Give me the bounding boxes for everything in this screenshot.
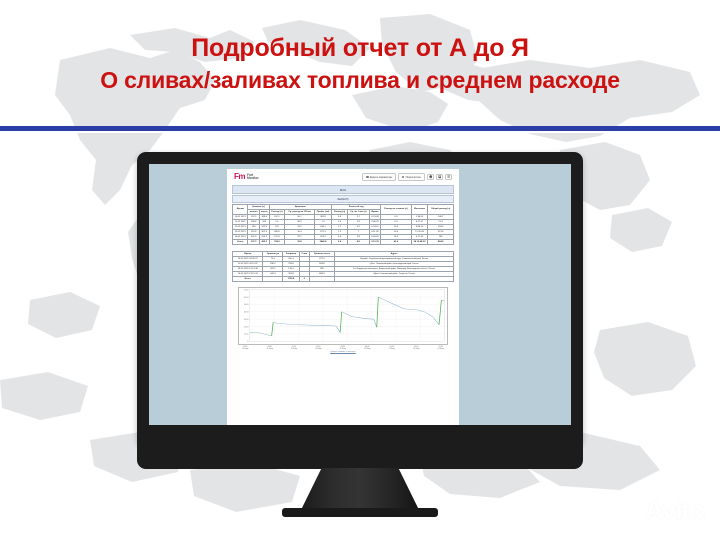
svg-text:400: 400 — [244, 311, 250, 313]
table-cell: 824.8 — [428, 240, 454, 245]
table-cell: 2443.4 — [314, 240, 331, 245]
svg-text:300: 300 — [244, 318, 250, 320]
table-cell: 34 10:08:03 — [411, 240, 427, 245]
x-axis-tick: 22:0014 Февр — [438, 346, 444, 350]
svg-text:100: 100 — [244, 333, 250, 335]
refresh-icon — [402, 176, 404, 178]
app-toolbar: Задать параметры Пересчитать — [362, 173, 452, 181]
fuel-chart-x-axis: 22:0010 Февр04:0011 Февр10:0011 Февр16:0… — [238, 346, 448, 350]
blue-divider — [0, 126, 720, 131]
svg-text:700: 700 — [244, 289, 250, 291]
set-params-button[interactable]: Задать параметры — [362, 173, 396, 181]
x-axis-tick: 10:0013 Февр — [389, 346, 395, 350]
table-total-row: Итого1155.80 — [233, 277, 454, 282]
menu-button[interactable] — [445, 174, 452, 181]
x-axis-tick: 22:0012 Февр — [340, 346, 346, 350]
fuel-chart-plot: 0100200300400500600700 — [238, 287, 448, 345]
table-cell: 9.4 — [332, 240, 348, 245]
headline-line-2: О сливах/заливах топлива и среднем расхо… — [100, 67, 620, 94]
table-cell: 1155.8 — [283, 277, 299, 282]
consumption-table-head: Время Уровень (л) Движение Холостой ход … — [233, 205, 454, 215]
app-header: Fm Fort Monitor Задать параметры — [232, 173, 454, 181]
svg-text:200: 200 — [244, 326, 250, 328]
table-cell: 754.5 — [269, 240, 285, 245]
table-cell: 4.8 — [347, 240, 369, 245]
monitor-frame: Fm Fort Monitor Задать параметры — [137, 152, 583, 447]
export-icon — [438, 175, 441, 178]
printer-icon — [429, 175, 432, 178]
report-page: Fm Fort Monitor Задать параметры — [227, 169, 459, 431]
x-axis-tick: 22:0010 Февр — [242, 346, 248, 350]
gear-icon — [366, 176, 368, 178]
x-axis-tick: 16:0011 Февр — [315, 346, 321, 350]
table-cell: Итого — [233, 277, 263, 282]
table-cell: 107.3 — [248, 240, 259, 245]
table-cell: 30.8 — [285, 240, 315, 245]
brand-logo: Fm Fort Monitor — [234, 173, 259, 181]
th-time: Время — [233, 205, 248, 215]
th-engine-hours: Моточасы — [411, 205, 427, 215]
table-total-row: Итого107.3420.2754.530.82443.49.44.83:10… — [233, 240, 454, 245]
table-cell: Итого — [233, 240, 248, 245]
list-icon — [447, 175, 450, 178]
fuel-events-table: ВремяУровень доЗаправкаСливУровень после… — [232, 251, 454, 282]
table-cell — [309, 277, 334, 282]
avito-watermark-text: Avito — [645, 495, 704, 526]
svg-text:0: 0 — [247, 340, 249, 342]
x-axis-tick: 04:0013 Февр — [364, 346, 370, 350]
promo-banner: Подробный отчет от А до Я О сливах/залив… — [0, 0, 720, 540]
x-axis-tick: 10:0011 Февр — [291, 346, 297, 350]
monitor-stand-base — [282, 508, 438, 517]
promo-headline: Подробный отчет от А до Я О сливах/залив… — [0, 0, 720, 128]
x-axis-tick: 04:0011 Февр — [266, 346, 272, 350]
headline-line-1: Подробный отчет от А до Я — [191, 34, 529, 63]
fuel-chart: 0100200300400500600700 22:0010 Февр04:00… — [232, 287, 454, 353]
monitor-chin — [137, 425, 583, 469]
avito-dots-icon — [615, 498, 641, 524]
x-axis-tick: 16:0014 Февр — [413, 346, 419, 350]
table-cell: 3:10:33 — [369, 240, 380, 245]
consumption-table: Время Уровень (л) Движение Холостой ход … — [232, 204, 454, 245]
fuel-chart-caption: Уровень топлива от времени — [238, 351, 448, 353]
table-cell — [334, 277, 453, 282]
recalculate-label: Пересчитать — [406, 176, 421, 179]
set-params-label: Задать параметры — [370, 176, 393, 179]
brand-mark: Fm — [234, 173, 245, 181]
table-cell: 0 — [299, 277, 309, 282]
svg-text:600: 600 — [244, 296, 250, 298]
th-parking-consumption: Расход на стоянке (л) — [381, 205, 412, 215]
table-cell: 420.2 — [259, 240, 269, 245]
report-title-bar: МАН — [232, 185, 454, 194]
table-cell: 42.9 — [381, 240, 412, 245]
svg-text:500: 500 — [244, 304, 250, 306]
fuel-events-body: 10.02.2021 20:30:2772.0200.4272.4«Лукойл… — [233, 257, 454, 282]
monitor-screen: Fm Fort Monitor Задать параметры — [149, 164, 571, 434]
brand-wordmark: Fort Monitor — [247, 174, 259, 181]
avito-watermark: Avito — [615, 495, 704, 526]
recalculate-button[interactable]: Пересчитать — [398, 173, 425, 181]
export-button[interactable] — [436, 174, 443, 181]
table-cell — [263, 277, 283, 282]
print-button[interactable] — [427, 174, 434, 181]
th-total-consumption: Общий расход (л) — [428, 205, 454, 215]
consumption-table-body: 10.02.2021107.3188.6102.130.7382.80.83.7… — [233, 215, 454, 245]
report-subtitle-bar: Бак(МАН) — [232, 195, 454, 202]
fuel-chart-svg: 0100200300400500600700 — [239, 288, 447, 344]
brand-line-2: Monitor — [247, 177, 259, 180]
